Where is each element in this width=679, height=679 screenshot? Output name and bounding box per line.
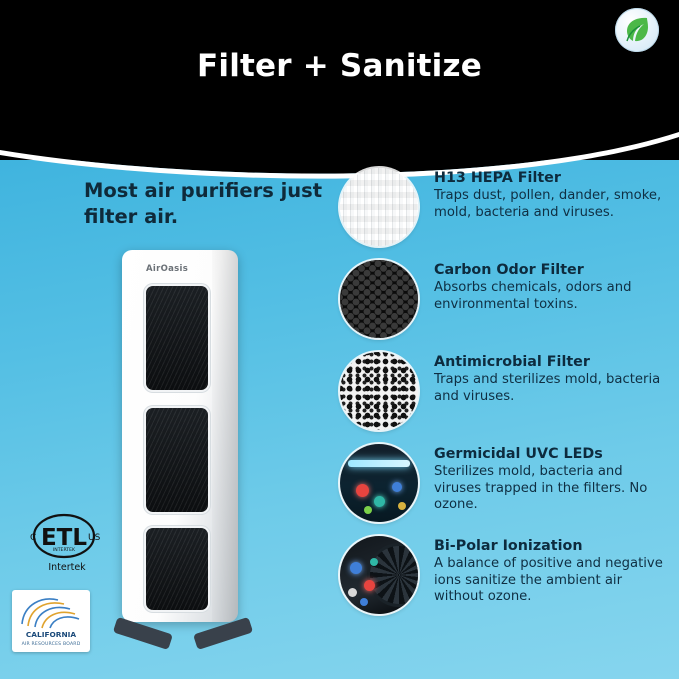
etl-certification-badge: ETL INTERTEK C US Intertek <box>22 512 106 574</box>
page-title: Filter + Sanitize <box>0 48 679 84</box>
headline-text: Most air purifiers just filter air. <box>84 178 334 229</box>
carb-swirl-icon <box>12 590 90 634</box>
hepa-filter-photo <box>340 168 418 246</box>
carbon-filter-photo <box>340 260 418 338</box>
feature-text-uvc: Germicidal UVC LEDs Sterilizes mold, bac… <box>434 444 670 513</box>
feature-row-antimicrobial: Antimicrobial Filter Traps and sterilize… <box>340 352 670 430</box>
leaf-glyph <box>624 16 650 44</box>
purifier-vent-top <box>146 286 208 390</box>
feature-title: Antimicrobial Filter <box>434 354 670 370</box>
feature-title: Carbon Odor Filter <box>434 262 670 278</box>
svg-text:C: C <box>30 533 36 543</box>
etl-mark-icon: ETL INTERTEK C US <box>22 512 106 564</box>
feature-text-bipolar: Bi-Polar Ionization A balance of positiv… <box>434 536 670 605</box>
feature-row-hepa: H13 HEPA Filter Traps dust, pollen, dand… <box>340 168 670 246</box>
uvc-led-photo <box>340 444 418 522</box>
feature-desc: A balance of positive and negative ions … <box>434 556 670 604</box>
product-brand-label: AirOasis <box>146 264 188 274</box>
purifier-body: AirOasis <box>122 250 238 622</box>
svg-text:US: US <box>88 533 101 543</box>
feature-desc: Absorbs chemicals, odors and environment… <box>434 280 670 312</box>
antimicrobial-filter-photo <box>340 352 418 430</box>
feature-row-carbon: Carbon Odor Filter Absorbs chemicals, od… <box>340 260 670 338</box>
feature-row-uvc: Germicidal UVC LEDs Sterilizes mold, bac… <box>340 444 670 522</box>
feature-list: H13 HEPA Filter Traps dust, pollen, dand… <box>340 168 670 628</box>
feature-row-bipolar: Bi-Polar Ionization A balance of positiv… <box>340 536 670 614</box>
poster-root: Filter + Sanitize Most air purifiers jus… <box>0 0 679 679</box>
feature-desc: Traps and sterilizes mold, bacteria and … <box>434 372 670 404</box>
svg-text:INTERTEK: INTERTEK <box>53 547 76 553</box>
feature-title: Bi-Polar Ionization <box>434 538 670 554</box>
purifier-side-shade <box>212 250 238 622</box>
etl-label: Intertek <box>28 562 106 573</box>
feature-title: H13 HEPA Filter <box>434 170 670 186</box>
feature-desc: Traps dust, pollen, dander, smoke, mold,… <box>434 188 670 220</box>
carb-label-line2: AIR RESOURCES BOARD <box>12 642 90 647</box>
feature-desc: Sterilizes mold, bacteria and viruses tr… <box>434 464 670 512</box>
purifier-vent-middle <box>146 408 208 512</box>
leaf-logo-icon <box>615 8 659 52</box>
carb-certification-badge: CALIFORNIA AIR RESOURCES BOARD <box>12 590 90 652</box>
feature-text-hepa: H13 HEPA Filter Traps dust, pollen, dand… <box>434 168 670 221</box>
purifier-vent-bottom <box>146 528 208 610</box>
product-image: AirOasis <box>108 250 258 650</box>
feature-title: Germicidal UVC LEDs <box>434 446 670 462</box>
feature-text-antimicrobial: Antimicrobial Filter Traps and sterilize… <box>434 352 670 405</box>
feature-text-carbon: Carbon Odor Filter Absorbs chemicals, od… <box>434 260 670 313</box>
bipolar-ionization-photo <box>340 536 418 614</box>
carb-label-line1: CALIFORNIA <box>12 630 90 639</box>
